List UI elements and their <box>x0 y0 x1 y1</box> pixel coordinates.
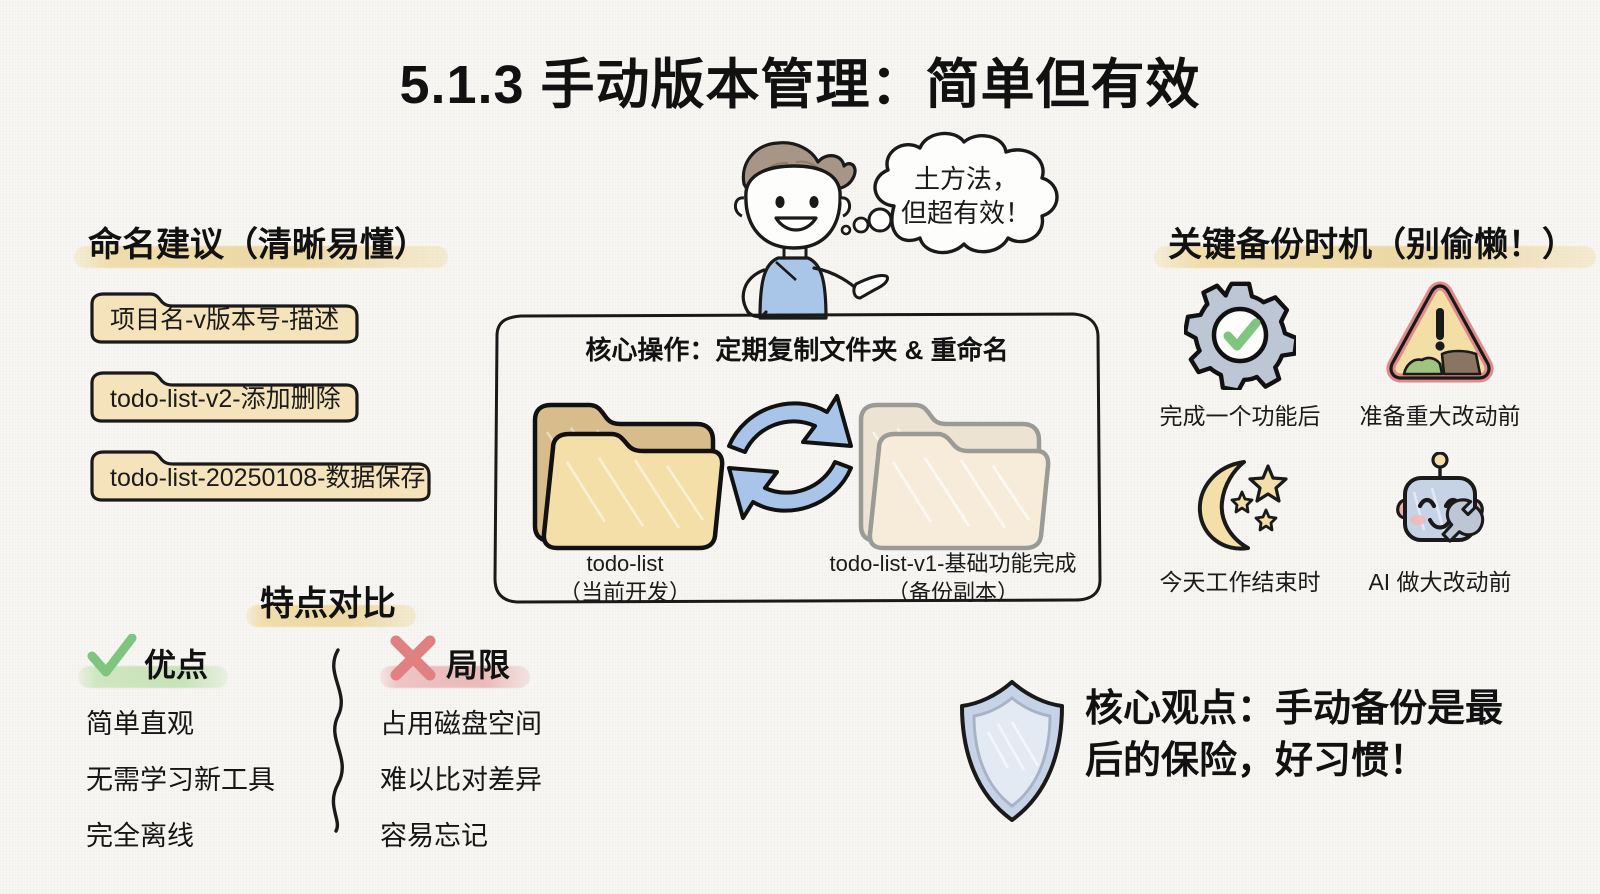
naming-chip-1[interactable]: 项目名-v版本号-描述 <box>88 290 360 346</box>
pointing-hand <box>854 275 888 298</box>
squiggle-divider <box>308 648 368 833</box>
naming-chip-2-label: todo-list-v2-添加删除 <box>110 379 341 415</box>
arrow-restore-back <box>729 462 851 518</box>
sync-arrows-icon <box>715 372 865 542</box>
backup-folder-caption: todo-list-v1-基础功能完成 （备份副本） <box>803 550 1103 607</box>
thought-bubble: 土方法， 但超有效！ <box>850 128 1080 268</box>
check-icon <box>86 634 138 678</box>
gear-check-icon <box>1184 278 1296 390</box>
eye-right <box>809 196 818 208</box>
arrow-copy-forward <box>729 396 851 452</box>
exclamation-dot <box>1435 341 1444 350</box>
cons-item-3: 容易忘记 <box>380 814 542 853</box>
pros-heading-text: 优点 <box>144 647 208 683</box>
cons-item-1: 占用磁盘空间 <box>380 702 542 741</box>
conclusion-line-1: 核心观点：手动备份是最 <box>1085 684 1555 736</box>
page-title: 5.1.3 手动版本管理：简单但有效 <box>0 40 1600 119</box>
star-small-lower <box>1256 510 1276 530</box>
core-operation-panel: 核心操作：定期复制文件夹 & 重命名 todo-list （当前开发） todo… <box>487 308 1107 608</box>
star-large <box>1250 466 1286 501</box>
timing-item-4[interactable]: AI 做大改动前 <box>1350 452 1530 597</box>
comparison-heading-text: 特点对比 <box>260 585 396 623</box>
cons-heading: 局限 <box>388 638 520 690</box>
timing-heading: 关键备份时机（别偷懒！） <box>1158 215 1586 270</box>
source-folder-sub: （当前开发） <box>505 579 745 608</box>
naming-heading: 命名建议（清晰易懂） <box>78 215 438 270</box>
pros-item-1: 简单直观 <box>86 702 275 741</box>
comparison-heading: 特点对比 <box>250 574 406 629</box>
pros-item-3: 完全离线 <box>86 814 275 853</box>
eye-left <box>775 196 784 208</box>
timing-heading-text: 关键备份时机（别偷懒！） <box>1168 226 1576 264</box>
source-folder-icon <box>527 396 727 556</box>
timing-item-1[interactable]: 完成一个功能后 <box>1150 278 1330 431</box>
shield-icon <box>952 676 1072 826</box>
timing-item-4-label: AI 做大改动前 <box>1350 563 1530 597</box>
cons-list: 占用磁盘空间 难以比对差异 容易忘记 <box>380 702 542 870</box>
thought-dot-small <box>842 226 850 234</box>
warning-landslide-icon <box>1384 278 1496 390</box>
naming-chip-3-label: todo-list-20250108-数据保存 <box>110 458 425 494</box>
cross-icon <box>388 635 438 681</box>
pros-item-2: 无需学习新工具 <box>86 758 275 797</box>
timing-item-2-label: 准备重大改动前 <box>1350 397 1530 431</box>
conclusion-text: 核心观点：手动备份是最 后的保险，好习惯！ <box>1085 684 1555 787</box>
folder-front-face <box>544 434 722 548</box>
star-small-upper <box>1232 492 1252 512</box>
cons-heading-text: 局限 <box>446 647 510 683</box>
conclusion-line-2: 后的保险，好习惯！ <box>1085 736 1555 788</box>
backup-folder-icon <box>853 396 1053 556</box>
folder-front-face <box>870 434 1048 548</box>
naming-chip-1-label: 项目名-v版本号-描述 <box>110 300 339 336</box>
timing-item-2[interactable]: 准备重大改动前 <box>1350 278 1530 431</box>
naming-heading-text: 命名建议（清晰易懂） <box>88 226 428 264</box>
head-shape <box>746 166 840 248</box>
pros-list: 简单直观 无需学习新工具 完全离线 <box>86 702 275 870</box>
core-operation-title: 核心操作：定期复制文件夹 & 重命名 <box>487 330 1107 367</box>
naming-chip-3[interactable]: todo-list-20250108-数据保存 <box>88 448 432 504</box>
backup-folder-sub: （备份副本） <box>803 579 1103 608</box>
source-folder-caption: todo-list （当前开发） <box>505 550 745 607</box>
timing-item-3[interactable]: 今天工作结束时 <box>1150 452 1330 597</box>
timing-item-3-label: 今天工作结束时 <box>1150 563 1330 597</box>
naming-chip-2[interactable]: todo-list-v2-添加删除 <box>88 369 360 425</box>
thought-line-1: 土方法， <box>914 164 1018 194</box>
moon-stars-icon <box>1184 452 1296 556</box>
antenna-bulb <box>1433 453 1447 467</box>
pros-heading: 优点 <box>86 638 218 690</box>
robot-wrench-icon <box>1384 452 1496 556</box>
source-folder-name: todo-list <box>505 550 745 579</box>
cons-item-2: 难以比对差异 <box>380 758 542 797</box>
thought-line-2: 但超有效！ <box>901 198 1031 228</box>
robot-cheek-left <box>1410 515 1426 525</box>
backup-folder-name: todo-list-v1-基础功能完成 <box>803 550 1103 579</box>
timing-item-1-label: 完成一个功能后 <box>1150 397 1330 431</box>
wrench-shape <box>1443 500 1483 541</box>
cliff-shape <box>1442 351 1480 374</box>
